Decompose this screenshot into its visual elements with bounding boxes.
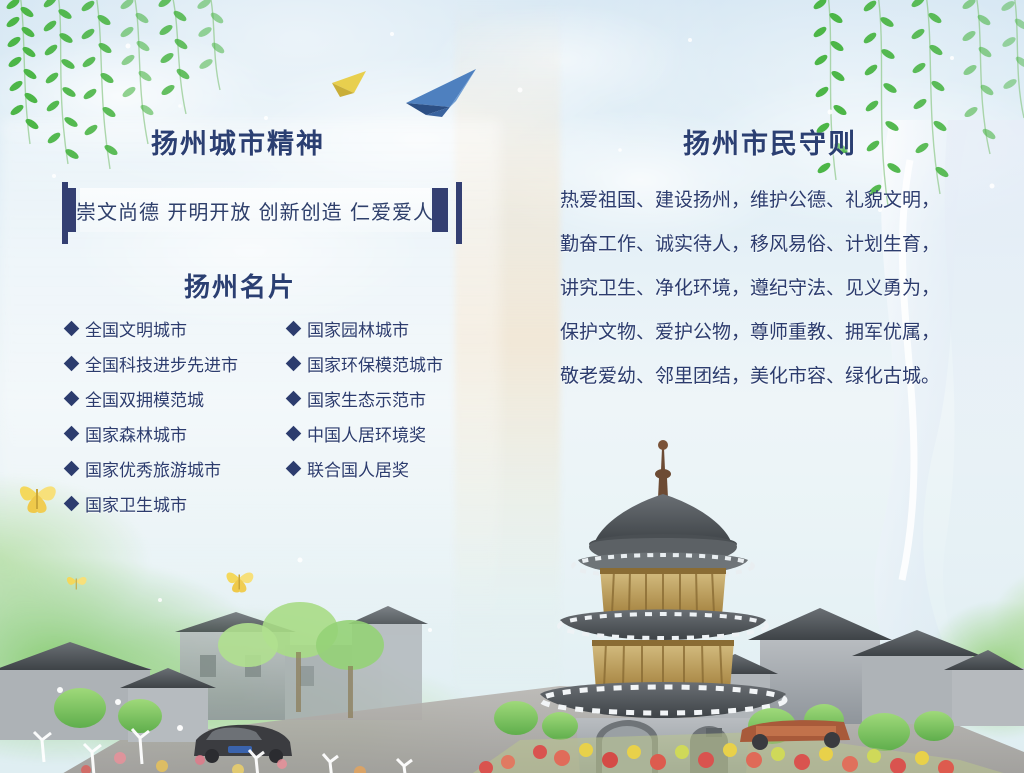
list-item-label: 国家卫生城市	[85, 491, 187, 516]
list-item: 国家园林城市	[288, 316, 488, 341]
list-item-label: 国家森林城市	[85, 421, 187, 446]
right-content-panel: 扬州市民守则 热爱祖国、建设扬州，维护公德、礼貌文明， 勤奋工作、诚实待人，移风…	[560, 128, 980, 398]
rules-line: 保护文物、爱护公物，尊师重教、拥军优属，	[560, 310, 980, 354]
bracket-right-block	[432, 188, 448, 232]
list-item: 全国双拥模范城	[66, 386, 266, 411]
list-item: 国家森林城市	[66, 421, 266, 446]
city-cards-column-right: 国家园林城市 国家环保模范城市 国家生态示范市 中国人居环境奖 联合国人居奖	[288, 316, 488, 516]
list-item-label: 全国文明城市	[85, 316, 187, 341]
city-cards-column-left: 全国文明城市 全国科技进步先进市 全国双拥模范城 国家森林城市 国家优秀旅游城市	[66, 316, 266, 516]
road	[60, 686, 1024, 773]
left-content-panel: 扬州城市精神 崇文尚德 开明开放 创新创造 仁爱爱人 扬州名片 全国文明城市 全…	[0, 128, 500, 516]
list-item: 国家环保模范城市	[288, 351, 488, 376]
list-item: 联合国人居奖	[288, 456, 488, 481]
diamond-bullet-icon	[64, 391, 80, 407]
rules-line: 勤奋工作、诚实待人，移风易俗、计划生育，	[560, 222, 980, 266]
list-item: 国家生态示范市	[288, 386, 488, 411]
background-buildings-left	[175, 606, 428, 720]
list-item-label: 联合国人居奖	[307, 456, 409, 481]
poster-canvas: 扬州城市精神 崇文尚德 开明开放 创新创造 仁爱爱人 扬州名片 全国文明城市 全…	[0, 0, 1024, 773]
flowerbed-icon	[470, 732, 1010, 773]
meadow-flowers	[81, 752, 366, 773]
meadow-green-wash-right	[930, 560, 1024, 773]
list-item-label: 国家园林城市	[307, 316, 409, 341]
background-buildings-right	[692, 608, 1024, 726]
white-grass-flowers	[34, 687, 412, 773]
list-item: 国家优秀旅游城市	[66, 456, 266, 481]
bracket-left-block	[62, 188, 76, 232]
list-item-label: 国家生态示范市	[307, 386, 426, 411]
bracket-right-tick	[456, 182, 462, 244]
pagoda-icon	[540, 440, 786, 773]
city-cards-columns: 全国文明城市 全国科技进步先进市 全国双拥模范城 国家森林城市 国家优秀旅游城市	[0, 316, 500, 516]
list-item-label: 全国双拥模范城	[85, 386, 204, 411]
diamond-bullet-icon	[64, 426, 80, 442]
list-item-label: 中国人居环境奖	[307, 421, 426, 446]
list-item-label: 国家优秀旅游城市	[85, 456, 221, 481]
diamond-bullet-icon	[286, 461, 302, 477]
diamond-bullet-icon	[64, 356, 80, 372]
diamond-bullet-icon	[286, 391, 302, 407]
rules-text-block: 热爱祖国、建设扬州，维护公德、礼貌文明， 勤奋工作、诚实待人，移风易俗、计划生育…	[560, 178, 980, 398]
list-item-label: 全国科技进步先进市	[85, 351, 238, 376]
rules-line: 热爱祖国、建设扬州，维护公德、礼貌文明，	[560, 178, 980, 222]
rules-title: 扬州市民守则	[560, 128, 980, 162]
diamond-bullet-icon	[64, 321, 80, 337]
rules-line: 讲究卫生、净化环境，遵纪守法、见义勇为，	[560, 266, 980, 310]
paper-plane-icon-yellow	[332, 71, 366, 97]
list-item: 中国人居环境奖	[288, 421, 488, 446]
paper-plane-icon-blue	[406, 69, 476, 117]
diamond-bullet-icon	[64, 496, 80, 512]
cards-title: 扬州名片	[0, 272, 500, 304]
butterfly-icon-tiny	[67, 577, 87, 589]
diamond-bullet-icon	[64, 461, 80, 477]
diamond-bullet-icon	[286, 426, 302, 442]
motto-inner-panel: 崇文尚德 开明开放 创新创造 仁爱爱人	[80, 188, 430, 232]
motto-banner: 崇文尚德 开明开放 创新创造 仁爱爱人	[62, 182, 462, 238]
list-item: 国家卫生城市	[66, 491, 266, 516]
list-item-label: 国家环保模范城市	[307, 351, 443, 376]
motto-text: 崇文尚德 开明开放 创新创造 仁爱爱人	[76, 196, 434, 225]
car-icon-2	[740, 720, 850, 750]
diamond-bullet-icon	[286, 321, 302, 337]
butterfly-icon-small	[226, 573, 253, 593]
spirit-title: 扬州城市精神	[0, 128, 500, 162]
list-item: 全国科技进步先进市	[66, 351, 266, 376]
list-item: 全国文明城市	[66, 316, 266, 341]
car-icon	[194, 725, 292, 763]
wall-cluster-left	[0, 642, 216, 742]
rules-line: 敬老爱幼、邻里团结，美化市容、绿化古城。	[560, 354, 980, 398]
paper-planes-group	[310, 55, 500, 125]
tree-row	[54, 602, 954, 751]
diamond-bullet-icon	[286, 356, 302, 372]
